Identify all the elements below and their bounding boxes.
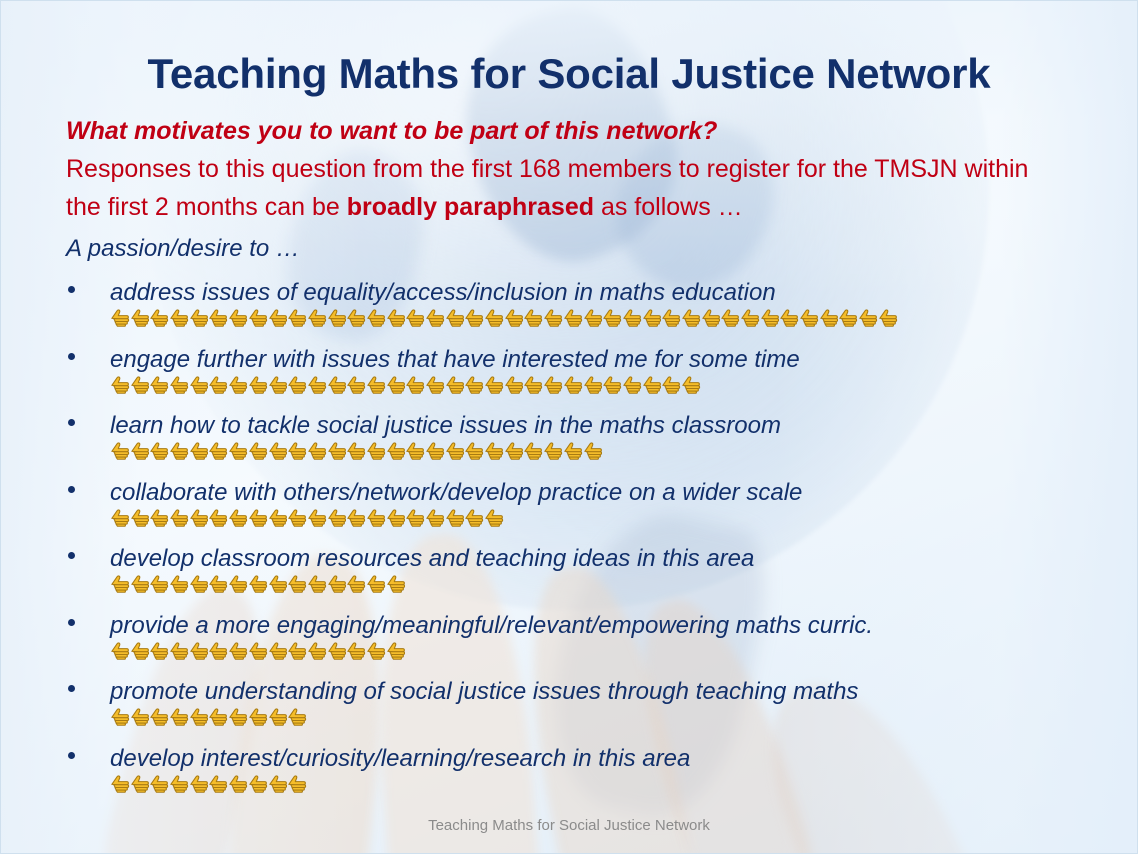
bullet-row: promote understanding of social justice … bbox=[66, 677, 1086, 744]
thumbs-up-icon bbox=[858, 308, 878, 327]
thumbs-up-icon bbox=[346, 308, 366, 327]
thumbs-up-icon bbox=[248, 375, 268, 394]
bullet-dot-icon bbox=[68, 619, 75, 626]
thumbs-up-icon bbox=[386, 641, 406, 660]
thumbs-up-icon bbox=[228, 574, 248, 593]
thumbs-up-icon bbox=[327, 375, 347, 394]
thumbs-up-icon bbox=[189, 375, 209, 394]
thumbs-up-icon bbox=[583, 308, 603, 327]
thumbs-up-icon bbox=[208, 707, 228, 726]
thumbs-up-icon bbox=[248, 707, 268, 726]
intro-paragraph: What motivates you to want to be part of… bbox=[66, 112, 1056, 226]
bullet-label: address issues of equality/access/inclus… bbox=[110, 278, 776, 308]
thumbs-up-icon bbox=[287, 574, 307, 593]
thumbs-up-icon bbox=[208, 375, 228, 394]
thumbs-up-icon bbox=[268, 375, 288, 394]
thumbs-up-icon bbox=[228, 308, 248, 327]
thumbs-up-icon bbox=[622, 375, 642, 394]
thumbs-up-icon bbox=[248, 574, 268, 593]
thumbs-up-icon bbox=[149, 508, 169, 527]
thumbs-up-icon bbox=[327, 308, 347, 327]
thumbs-up-icon bbox=[130, 574, 150, 593]
thumbs-up-icon bbox=[386, 508, 406, 527]
thumbs-up-icon bbox=[445, 375, 465, 394]
thumbs-up-icon bbox=[445, 308, 465, 327]
thumbs-up-icon bbox=[366, 574, 386, 593]
thumbs-up-icon bbox=[819, 308, 839, 327]
page-title: Teaching Maths for Social Justice Networ… bbox=[0, 50, 1138, 98]
slide: Teaching Maths for Social Justice Networ… bbox=[0, 0, 1138, 854]
thumbs-up-icon bbox=[307, 641, 327, 660]
thumbs-up-icon bbox=[602, 375, 622, 394]
thumbs-up-icon bbox=[307, 574, 327, 593]
thumbs-up-icon bbox=[189, 308, 209, 327]
thumbs-up-icon bbox=[799, 308, 819, 327]
thumbs-up-icon bbox=[464, 375, 484, 394]
bullet-dot-icon bbox=[68, 752, 75, 759]
thumbs-up-icon bbox=[189, 508, 209, 527]
thumbs-up-icon bbox=[248, 308, 268, 327]
thumbs-up-icon bbox=[268, 574, 288, 593]
thumbs-up-icon bbox=[425, 508, 445, 527]
thumbs-up-icon bbox=[405, 375, 425, 394]
thumbs-up-icon bbox=[130, 641, 150, 660]
bullet-label: collaborate with others/network/develop … bbox=[110, 478, 802, 508]
thumbs-up-icon bbox=[425, 375, 445, 394]
bullet-label: develop interest/curiosity/learning/rese… bbox=[110, 744, 690, 774]
thumbs-up-icon bbox=[228, 508, 248, 527]
thumbs-up-tally bbox=[110, 375, 701, 394]
thumbs-up-icon bbox=[563, 441, 583, 460]
thumbs-up-icon bbox=[405, 441, 425, 460]
thumbs-up-icon bbox=[386, 308, 406, 327]
bullet-label: promote understanding of social justice … bbox=[110, 677, 858, 707]
thumbs-up-icon bbox=[248, 641, 268, 660]
thumbs-up-icon bbox=[346, 441, 366, 460]
thumbs-up-tally bbox=[110, 308, 898, 327]
thumbs-up-icon bbox=[248, 441, 268, 460]
thumbs-up-icon bbox=[110, 375, 130, 394]
thumbs-up-icon bbox=[130, 375, 150, 394]
bullet-dot-icon bbox=[68, 486, 75, 493]
thumbs-up-icon bbox=[169, 574, 189, 593]
thumbs-up-icon bbox=[149, 574, 169, 593]
thumbs-up-icon bbox=[189, 574, 209, 593]
bullet-dot-icon bbox=[68, 353, 75, 360]
thumbs-up-icon bbox=[464, 308, 484, 327]
thumbs-up-icon bbox=[228, 641, 248, 660]
thumbs-up-icon bbox=[838, 308, 858, 327]
thumbs-up-icon bbox=[189, 774, 209, 793]
thumbs-up-icon bbox=[405, 308, 425, 327]
thumbs-up-icon bbox=[425, 441, 445, 460]
thumbs-up-icon bbox=[110, 774, 130, 793]
thumbs-up-icon bbox=[307, 308, 327, 327]
thumbs-up-icon bbox=[386, 574, 406, 593]
bullet-label: develop classroom resources and teaching… bbox=[110, 544, 754, 574]
thumbs-up-icon bbox=[287, 375, 307, 394]
bullet-dot-icon bbox=[68, 419, 75, 426]
thumbs-up-icon bbox=[287, 707, 307, 726]
thumbs-up-icon bbox=[189, 441, 209, 460]
thumbs-up-icon bbox=[287, 441, 307, 460]
thumbs-up-icon bbox=[248, 774, 268, 793]
thumbs-up-icon bbox=[228, 375, 248, 394]
thumbs-up-icon bbox=[268, 441, 288, 460]
thumbs-up-icon bbox=[169, 707, 189, 726]
slide-footer: Teaching Maths for Social Justice Networ… bbox=[0, 817, 1138, 834]
thumbs-up-icon bbox=[464, 508, 484, 527]
thumbs-up-icon bbox=[149, 641, 169, 660]
thumbs-up-icon bbox=[346, 375, 366, 394]
thumbs-up-icon bbox=[327, 574, 347, 593]
bullet-dot-icon bbox=[68, 286, 75, 293]
bullet-list: address issues of equality/access/inclus… bbox=[66, 278, 1086, 810]
thumbs-up-icon bbox=[169, 641, 189, 660]
thumbs-up-icon bbox=[583, 375, 603, 394]
thumbs-up-icon bbox=[149, 707, 169, 726]
thumbs-up-icon bbox=[563, 308, 583, 327]
thumbs-up-icon bbox=[563, 375, 583, 394]
bullet-label: learn how to tackle social justice issue… bbox=[110, 411, 781, 441]
thumbs-up-icon bbox=[307, 508, 327, 527]
bullet-row: provide a more engaging/meaningful/relev… bbox=[66, 611, 1086, 678]
thumbs-up-icon bbox=[425, 308, 445, 327]
thumbs-up-icon bbox=[523, 308, 543, 327]
thumbs-up-icon bbox=[504, 441, 524, 460]
thumbs-up-icon bbox=[327, 641, 347, 660]
thumbs-up-icon bbox=[543, 441, 563, 460]
thumbs-up-icon bbox=[307, 375, 327, 394]
lead-in-text: A passion/desire to … bbox=[66, 235, 300, 263]
thumbs-up-icon bbox=[346, 641, 366, 660]
bullet-row: develop interest/curiosity/learning/rese… bbox=[66, 744, 1086, 811]
thumbs-up-icon bbox=[760, 308, 780, 327]
thumbs-up-icon bbox=[208, 508, 228, 527]
thumbs-up-icon bbox=[268, 707, 288, 726]
bullet-row: develop classroom resources and teaching… bbox=[66, 544, 1086, 611]
bullet-row: address issues of equality/access/inclus… bbox=[66, 278, 1086, 345]
thumbs-up-icon bbox=[169, 508, 189, 527]
thumbs-up-icon bbox=[208, 641, 228, 660]
thumbs-up-icon bbox=[189, 707, 209, 726]
thumbs-up-icon bbox=[504, 375, 524, 394]
thumbs-up-icon bbox=[327, 508, 347, 527]
intro-body: Responses to this question from the firs… bbox=[66, 150, 1056, 226]
thumbs-up-icon bbox=[287, 308, 307, 327]
thumbs-up-icon bbox=[484, 508, 504, 527]
thumbs-up-icon bbox=[445, 508, 465, 527]
thumbs-up-icon bbox=[130, 774, 150, 793]
thumbs-up-icon bbox=[386, 375, 406, 394]
thumbs-up-icon bbox=[268, 508, 288, 527]
thumbs-up-icon bbox=[681, 308, 701, 327]
thumbs-up-icon bbox=[169, 441, 189, 460]
thumbs-up-icon bbox=[779, 308, 799, 327]
thumbs-up-icon bbox=[228, 707, 248, 726]
thumbs-up-icon bbox=[110, 441, 130, 460]
thumbs-up-icon bbox=[523, 441, 543, 460]
thumbs-up-icon bbox=[543, 308, 563, 327]
thumbs-up-icon bbox=[484, 441, 504, 460]
thumbs-up-icon bbox=[366, 508, 386, 527]
thumbs-up-icon bbox=[189, 641, 209, 660]
bullet-dot-icon bbox=[68, 552, 75, 559]
thumbs-up-icon bbox=[740, 308, 760, 327]
thumbs-up-icon bbox=[208, 574, 228, 593]
thumbs-up-icon bbox=[287, 641, 307, 660]
thumbs-up-icon bbox=[208, 308, 228, 327]
thumbs-up-icon bbox=[681, 375, 701, 394]
thumbs-up-icon bbox=[661, 308, 681, 327]
thumbs-up-icon bbox=[307, 441, 327, 460]
bullet-row: engage further with issues that have int… bbox=[66, 345, 1086, 412]
thumbs-up-icon bbox=[130, 308, 150, 327]
thumbs-up-icon bbox=[149, 441, 169, 460]
intro-question: What motivates you to want to be part of… bbox=[66, 112, 1056, 150]
intro-body-part2: as follows … bbox=[594, 193, 743, 221]
thumbs-up-icon bbox=[642, 308, 662, 327]
thumbs-up-icon bbox=[366, 441, 386, 460]
thumbs-up-tally bbox=[110, 774, 307, 793]
thumbs-up-icon bbox=[622, 308, 642, 327]
bullet-dot-icon bbox=[68, 685, 75, 692]
thumbs-up-tally bbox=[110, 508, 504, 527]
thumbs-up-icon bbox=[484, 308, 504, 327]
thumbs-up-icon bbox=[504, 308, 524, 327]
thumbs-up-icon bbox=[386, 441, 406, 460]
thumbs-up-icon bbox=[642, 375, 662, 394]
thumbs-up-icon bbox=[130, 508, 150, 527]
thumbs-up-icon bbox=[110, 308, 130, 327]
thumbs-up-icon bbox=[445, 441, 465, 460]
bullet-row: collaborate with others/network/develop … bbox=[66, 478, 1086, 545]
thumbs-up-icon bbox=[248, 508, 268, 527]
thumbs-up-icon bbox=[130, 441, 150, 460]
thumbs-up-icon bbox=[110, 508, 130, 527]
thumbs-up-icon bbox=[228, 441, 248, 460]
thumbs-up-icon bbox=[405, 508, 425, 527]
thumbs-up-icon bbox=[208, 441, 228, 460]
thumbs-up-icon bbox=[149, 308, 169, 327]
thumbs-up-icon bbox=[110, 707, 130, 726]
thumbs-up-icon bbox=[346, 508, 366, 527]
thumbs-up-icon bbox=[366, 308, 386, 327]
thumbs-up-icon bbox=[543, 375, 563, 394]
thumbs-up-icon bbox=[268, 774, 288, 793]
intro-body-bold: broadly paraphrased bbox=[347, 193, 594, 221]
thumbs-up-icon bbox=[110, 641, 130, 660]
thumbs-up-icon bbox=[149, 375, 169, 394]
thumbs-up-icon bbox=[228, 774, 248, 793]
thumbs-up-icon bbox=[110, 574, 130, 593]
thumbs-up-tally bbox=[110, 641, 405, 660]
thumbs-up-icon bbox=[287, 508, 307, 527]
thumbs-up-icon bbox=[523, 375, 543, 394]
thumbs-up-icon bbox=[208, 774, 228, 793]
thumbs-up-icon bbox=[268, 641, 288, 660]
thumbs-up-icon bbox=[720, 308, 740, 327]
thumbs-up-icon bbox=[583, 441, 603, 460]
thumbs-up-tally bbox=[110, 441, 602, 460]
thumbs-up-icon bbox=[169, 308, 189, 327]
thumbs-up-icon bbox=[149, 774, 169, 793]
thumbs-up-icon bbox=[327, 441, 347, 460]
thumbs-up-icon bbox=[169, 774, 189, 793]
thumbs-up-icon bbox=[701, 308, 721, 327]
thumbs-up-icon bbox=[268, 308, 288, 327]
thumbs-up-icon bbox=[366, 375, 386, 394]
bullet-row: learn how to tackle social justice issue… bbox=[66, 411, 1086, 478]
bullet-label: provide a more engaging/meaningful/relev… bbox=[110, 611, 873, 641]
thumbs-up-icon bbox=[130, 707, 150, 726]
thumbs-up-icon bbox=[287, 774, 307, 793]
bullet-label: engage further with issues that have int… bbox=[110, 345, 800, 375]
thumbs-up-icon bbox=[661, 375, 681, 394]
thumbs-up-icon bbox=[169, 375, 189, 394]
thumbs-up-icon bbox=[484, 375, 504, 394]
thumbs-up-icon bbox=[366, 641, 386, 660]
thumbs-up-icon bbox=[346, 574, 366, 593]
thumbs-up-icon bbox=[464, 441, 484, 460]
thumbs-up-tally bbox=[110, 574, 405, 593]
thumbs-up-icon bbox=[878, 308, 898, 327]
thumbs-up-icon bbox=[602, 308, 622, 327]
thumbs-up-tally bbox=[110, 707, 307, 726]
